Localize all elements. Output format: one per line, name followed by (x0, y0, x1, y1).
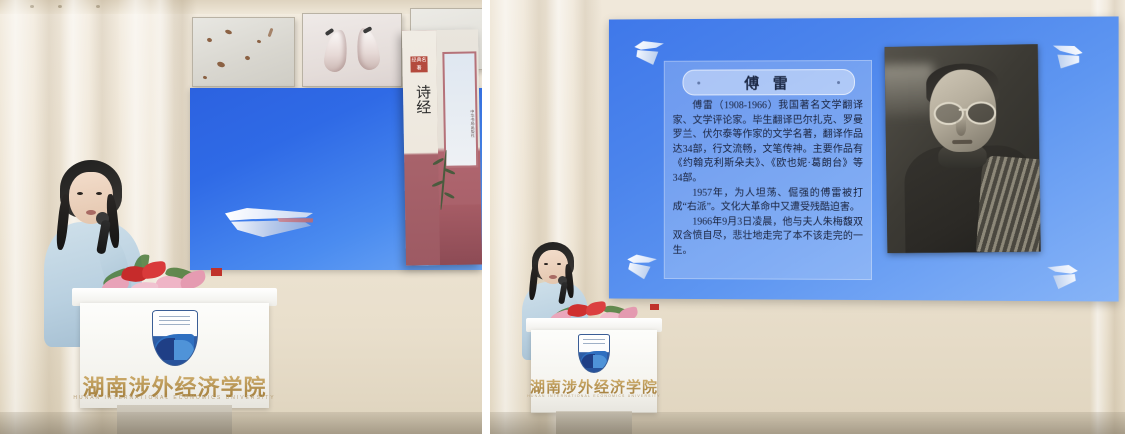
shijing-book-poster: 经典名著 诗经 中华书局出版社 (402, 29, 482, 265)
slide-paragraph: 1966年9月3日凌晨，他与夫人朱梅馥双双含愤自尽，悲壮地走完了本不该走完的一生… (673, 215, 863, 259)
red-desk-object (211, 268, 222, 276)
bamboo-branch-graphic (430, 150, 457, 216)
collage-divider (482, 0, 490, 442)
slide-title: 傅 雷 (744, 72, 792, 93)
photo-left: 经典名著 诗经 中华书局出版社 (0, 0, 482, 434)
wall-art-swan-print (302, 13, 402, 87)
slide-title-banner: 傅 雷 (683, 69, 856, 95)
fu-lei-portrait-photo (885, 44, 1041, 253)
book-stamp: 经典名著 (410, 56, 427, 72)
projection-screen-right: 傅 雷 傅雷（1908-1966）我国著名文学翻译家、文学评论家。毕生翻译巴尔扎… (609, 16, 1119, 301)
origami-dove-icon (634, 41, 663, 65)
slide-body-text: 傅雷（1908-1966）我国著名文学翻译家、文学评论家。毕生翻译巴尔扎克、罗曼… (673, 99, 863, 260)
lectern-org-name-en: HUNAN INTERNATIONAL ECONOMICS UNIVERSITY (526, 394, 662, 398)
origami-dove-icon (1050, 43, 1084, 71)
red-desk-object (650, 304, 659, 310)
photo-right: 傅 雷 傅雷（1908-1966）我国著名文学翻译家、文学评论家。毕生翻译巴尔扎… (490, 0, 1125, 434)
book-title: 诗经 (409, 76, 432, 122)
origami-bird-graphic (225, 208, 313, 236)
origami-dove-icon (1047, 265, 1077, 289)
floor-shadow (0, 412, 482, 434)
wall-art-speckled-print (192, 17, 295, 87)
university-shield-logo (578, 334, 610, 373)
slide-paragraph: 傅雷（1908-1966）我国著名文学翻译家、文学评论家。毕生翻译巴尔扎克、罗曼… (673, 99, 863, 187)
book-side-text: 中华书局出版社 (470, 109, 475, 137)
origami-dove-icon (625, 254, 657, 281)
floor-shadow (490, 412, 1125, 434)
lectern-org-name-en: HUNAN INTERNATIONAL ECONOMICS UNIVERSITY (72, 395, 277, 401)
photo-collage: 经典名著 诗经 中华书局出版社 (0, 0, 1125, 442)
university-shield-logo (152, 310, 198, 366)
slide-paragraph: 1957年，为人坦荡、倔强的傅雷被打成“右派”。文化大革命中又遭受残酷迫害。 (673, 186, 863, 215)
slide-text-card: 傅 雷 傅雷（1908-1966）我国著名文学翻译家、文学评论家。毕生翻译巴尔扎… (664, 60, 872, 280)
